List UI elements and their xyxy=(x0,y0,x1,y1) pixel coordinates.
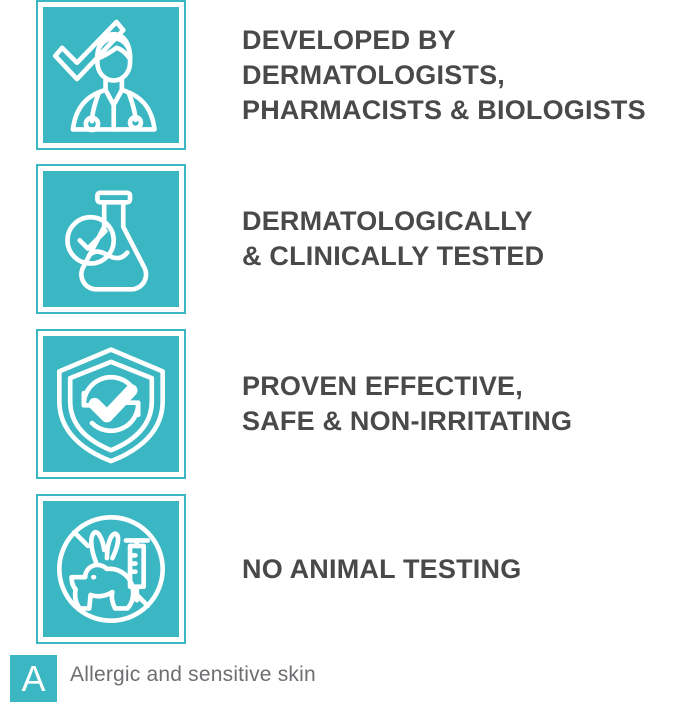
feature-text-line: SAFE & NON-IRRITATING xyxy=(242,404,679,439)
feature-text-line: & CLINICALLY TESTED xyxy=(242,239,679,274)
feature-text-line: NO ANIMAL TESTING xyxy=(242,552,679,587)
feature-text: DERMATOLOGICALLY & CLINICALLY TESTED xyxy=(242,164,679,314)
feature-text-line: PROVEN EFFECTIVE, xyxy=(242,369,679,404)
doctor-check-icon xyxy=(43,7,179,143)
feature-text-line: DERMATOLOGISTS, xyxy=(242,58,679,93)
allergy-grade-badge: A xyxy=(10,655,57,702)
footer: A Allergic and sensitive skin xyxy=(0,649,679,711)
footer-label: Allergic and sensitive skin xyxy=(70,663,316,687)
icon-badge xyxy=(36,329,186,479)
no-animal-testing-icon xyxy=(43,501,179,637)
shield-check-icon xyxy=(43,336,179,472)
feature-text: PROVEN EFFECTIVE, SAFE & NON-IRRITATING xyxy=(242,329,679,479)
feature-row: DERMATOLOGICALLY & CLINICALLY TESTED xyxy=(0,164,679,314)
icon-badge xyxy=(36,164,186,314)
feature-text: DEVELOPED BY DERMATOLOGISTS, PHARMACISTS… xyxy=(242,0,679,150)
feature-text-line: DEVELOPED BY xyxy=(242,23,679,58)
feature-text-line: DERMATOLOGICALLY xyxy=(242,204,679,239)
icon-badge xyxy=(36,0,186,150)
flask-check-icon xyxy=(43,171,179,307)
feature-text: NO ANIMAL TESTING xyxy=(242,494,679,644)
feature-text-line: PHARMACISTS & BIOLOGISTS xyxy=(242,93,679,128)
icon-badge xyxy=(36,494,186,644)
feature-row: PROVEN EFFECTIVE, SAFE & NON-IRRITATING xyxy=(0,329,679,479)
feature-row: DEVELOPED BY DERMATOLOGISTS, PHARMACISTS… xyxy=(0,0,679,150)
feature-row: NO ANIMAL TESTING xyxy=(0,494,679,644)
